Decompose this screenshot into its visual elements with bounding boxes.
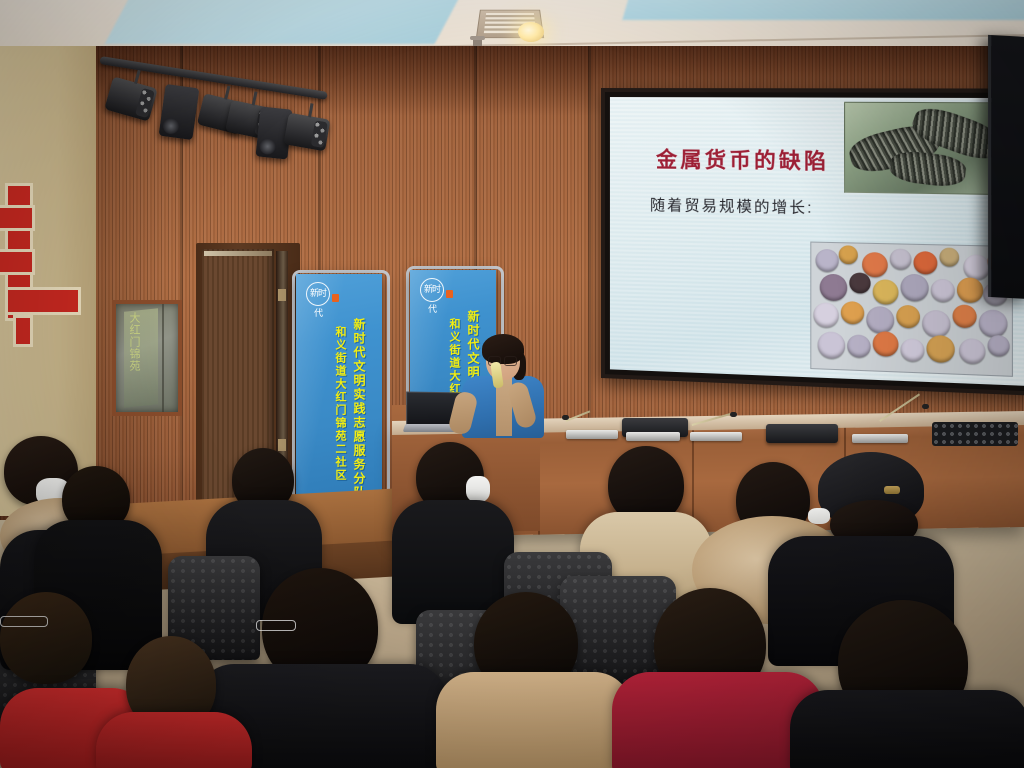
world-coins-photo	[810, 242, 1013, 377]
gooseneck-microphone[interactable]	[852, 434, 908, 443]
cove-light-right	[622, 0, 1024, 20]
mic-capsule-icon	[562, 415, 569, 420]
cove-light-left	[105, 0, 466, 44]
window-reflection-text: 大红门锦苑	[128, 312, 139, 372]
strung-coins-photo	[844, 102, 1009, 195]
mic-capsule-icon	[922, 404, 929, 409]
spot-light-bulb-icon	[518, 22, 544, 42]
moving-head-light	[159, 84, 200, 140]
banner-logo-icon: 新时代	[306, 282, 330, 306]
lecture-hall-photo: 大红门锦苑 金属货币的缺陷 随着贸易规模的增长:	[0, 0, 1024, 768]
banner-logo-icon: 新时代	[420, 278, 444, 302]
desk-speaker-grille	[932, 422, 1018, 446]
gooseneck-microphone[interactable]	[626, 432, 680, 441]
banner-left-line-primary: 新时代文明实践志愿服务分队	[351, 318, 368, 498]
gooseneck-microphone[interactable]	[566, 430, 618, 439]
projection-screen: 金属货币的缺陷 随着贸易规模的增长:	[601, 88, 1024, 396]
nameplate	[766, 424, 838, 443]
slide-title: 金属货币的缺陷	[656, 143, 829, 175]
banner-left-line-secondary: 和义街道大红门锦苑二社区	[332, 326, 348, 482]
gooseneck-microphone[interactable]	[690, 432, 742, 441]
mic-capsule-icon	[730, 412, 737, 417]
wall-display-panel	[988, 35, 1024, 299]
wall-window: 大红门锦苑	[112, 300, 182, 416]
slide-subtitle: 随着贸易规模的增长:	[650, 194, 814, 218]
banner-left[interactable]: 新时代 新时代文明实践志愿服务分队 和义街道大红门锦苑二社区	[296, 274, 382, 498]
red-character-plaque	[0, 186, 80, 336]
slide-surface: 金属货币的缺陷 随着贸易规模的增长:	[610, 97, 1024, 386]
